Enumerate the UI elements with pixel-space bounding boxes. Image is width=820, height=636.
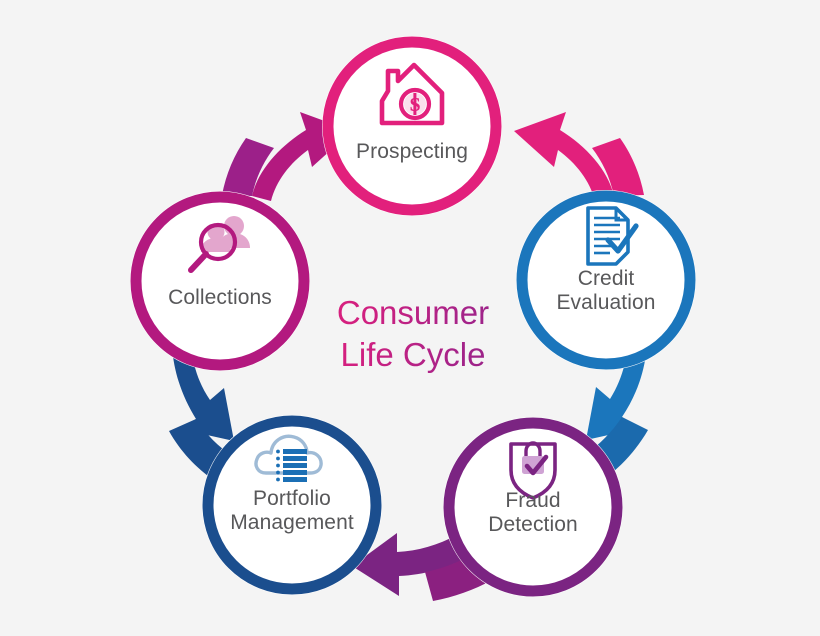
arrow-prospecting-to-credit: [514, 112, 644, 201]
node-fraud-detection[interactable]: [443, 417, 623, 597]
node-portfolio-management[interactable]: [202, 415, 382, 595]
consumer-life-cycle-diagram: S: [0, 0, 820, 636]
shield-lock-check-icon: [511, 443, 555, 498]
node-collections[interactable]: [130, 191, 310, 371]
node-prospecting[interactable]: S: [322, 36, 502, 216]
node-credit-evaluation[interactable]: [516, 190, 696, 370]
center-title: Consumer Life Cycle: [300, 292, 526, 376]
